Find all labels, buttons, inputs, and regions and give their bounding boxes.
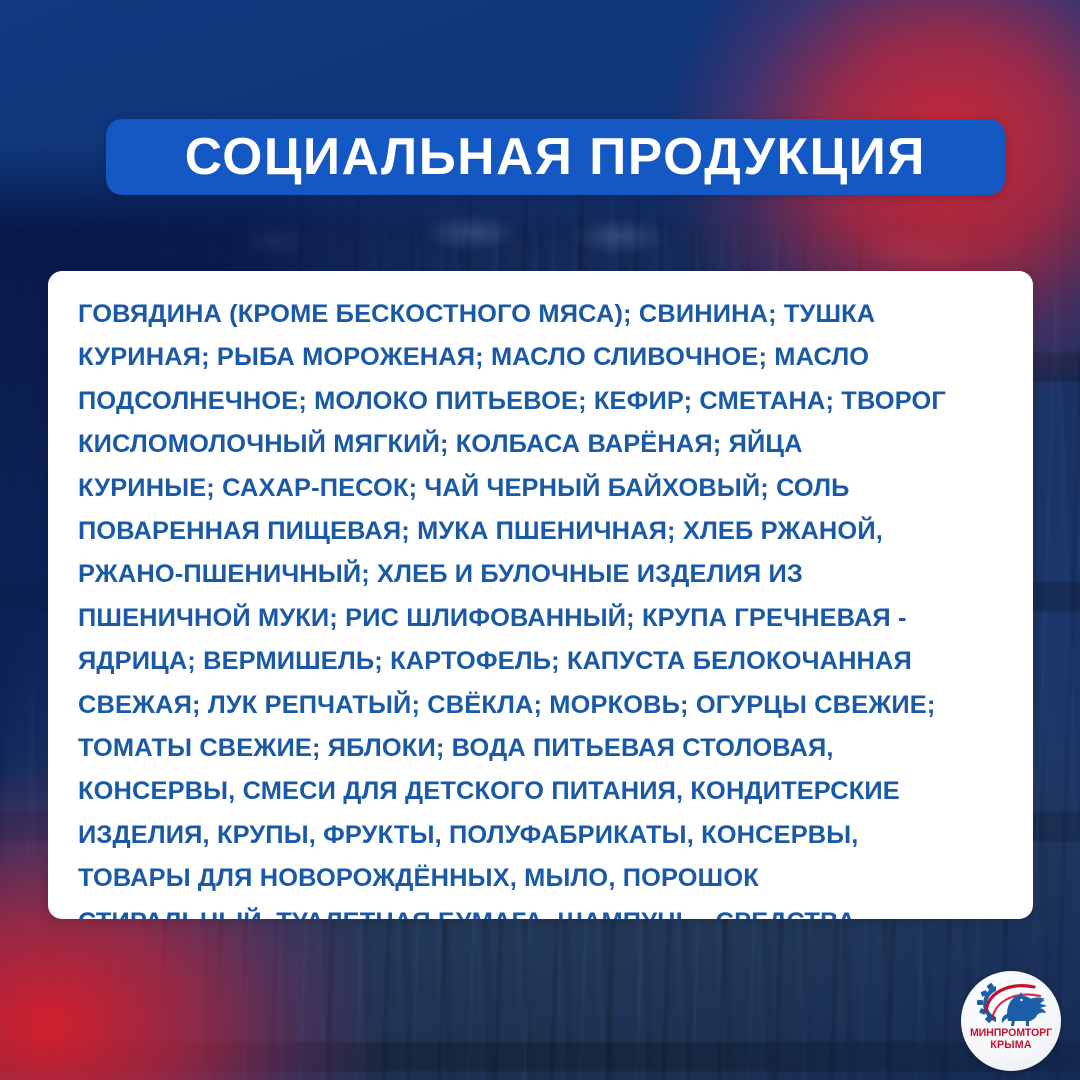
product-list-line: РЖАНО-ПШЕНИЧНЫЙ; ХЛЕБ И БУЛОЧНЫЕ ИЗДЕЛИЯ… bbox=[78, 553, 1007, 596]
product-list-line: ГОВЯДИНА (КРОМЕ БЕСКОСТНОГО МЯСА); СВИНИ… bbox=[78, 293, 1007, 336]
title-banner: СОЦИАЛЬНАЯ ПРОДУКЦИЯ bbox=[106, 119, 1005, 195]
ministry-logo: МИНПРОМТОРГ КРЫМА bbox=[961, 971, 1061, 1071]
page-title: СОЦИАЛЬНАЯ ПРОДУКЦИЯ bbox=[185, 131, 926, 183]
product-list-line: ЯДРИЦА; ВЕРМИШЕЛЬ; КАРТОФЕЛЬ; КАПУСТА БЕ… bbox=[78, 640, 1007, 683]
product-list-card: ГОВЯДИНА (КРОМЕ БЕСКОСТНОГО МЯСА); СВИНИ… bbox=[48, 271, 1033, 919]
product-list-line: ПШЕНИЧНОЙ МУКИ; РИС ШЛИФОВАННЫЙ; КРУПА Г… bbox=[78, 597, 1007, 640]
product-list-line: КОНСЕРВЫ, СМЕСИ ДЛЯ ДЕТСКОГО ПИТАНИЯ, КО… bbox=[78, 770, 1007, 813]
product-list-line: СВЕЖАЯ; ЛУК РЕПЧАТЫЙ; СВЁКЛА; МОРКОВЬ; О… bbox=[78, 684, 1007, 727]
griffin-gear-emblem-icon bbox=[974, 981, 1048, 1027]
product-list-line: ТОВАРЫ ДЛЯ НОВОРОЖДЁННЫХ, МЫЛО, ПОРОШОК bbox=[78, 857, 1007, 900]
product-list-line: ПОВАРЕННАЯ ПИЩЕВАЯ; МУКА ПШЕНИЧНАЯ; ХЛЕБ… bbox=[78, 510, 1007, 553]
poster-root: СОЦИАЛЬНАЯ ПРОДУКЦИЯ ГОВЯДИНА (КРОМЕ БЕС… bbox=[0, 0, 1080, 1080]
product-list-line: КУРИНЫЕ; САХАР-ПЕСОК; ЧАЙ ЧЕРНЫЙ БАЙХОВЫ… bbox=[78, 467, 1007, 510]
product-list-line: ИЗДЕЛИЯ, КРУПЫ, ФРУКТЫ, ПОЛУФАБРИКАТЫ, К… bbox=[78, 814, 1007, 857]
product-list-line: КИСЛОМОЛОЧНЫЙ МЯГКИЙ; КОЛБАСА ВАРЁНАЯ; Я… bbox=[78, 423, 1007, 466]
logo-name-line2: КРЫМА bbox=[990, 1039, 1031, 1052]
product-list-line: КУРИНАЯ; РЫБА МОРОЖЕНАЯ; МАСЛО СЛИВОЧНОЕ… bbox=[78, 336, 1007, 379]
product-list-line: ТОМАТЫ СВЕЖИЕ; ЯБЛОКИ; ВОДА ПИТЬЕВАЯ СТО… bbox=[78, 727, 1007, 770]
logo-name-line1: МИНПРОМТОРГ bbox=[970, 1028, 1052, 1039]
product-list-line: ПОДСОЛНЕЧНОЕ; МОЛОКО ПИТЬЕВОЕ; КЕФИР; СМ… bbox=[78, 380, 1007, 423]
product-list-line: СТИРАЛЬНЫЙ, ТУАЛЕТНАЯ БУМАГА, ШАМПУНЬ, С… bbox=[78, 901, 1007, 919]
background-header-field bbox=[0, 0, 1080, 232]
product-list-text: ГОВЯДИНА (КРОМЕ БЕСКОСТНОГО МЯСА); СВИНИ… bbox=[78, 293, 1007, 919]
